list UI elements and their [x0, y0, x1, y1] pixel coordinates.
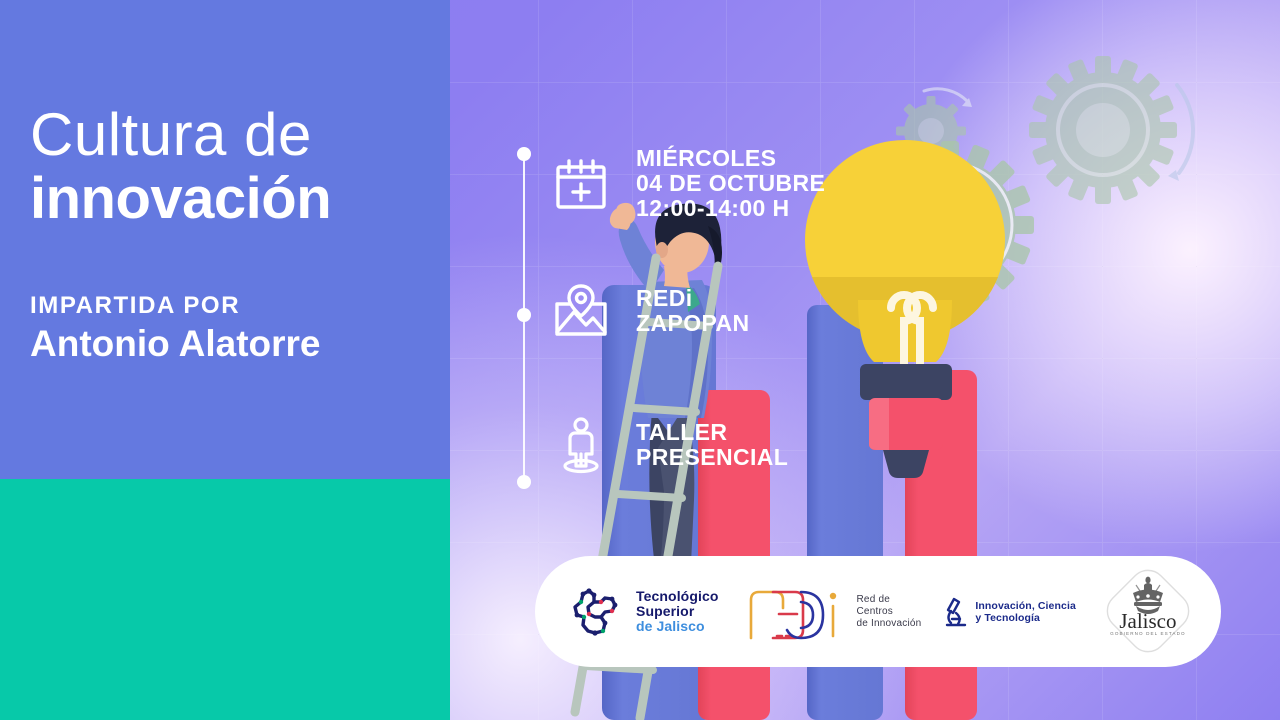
jalisco-tagline: GOBIERNO DEL ESTADO	[1100, 631, 1196, 636]
poster-root: Cultura de innovación IMPARTIDA POR Anto…	[0, 0, 1280, 720]
left-teal-block	[0, 479, 450, 720]
logo-innovacion-ciencia-tecnologia: Innovación, Ciencia y Tecnología	[943, 595, 1076, 629]
microscope-icon	[943, 595, 969, 629]
timeline-dot-2	[517, 308, 531, 322]
poster-title: Cultura de innovación	[30, 104, 430, 232]
logo-jalisco: Jalisco GOBIERNO DEL ESTADO	[1100, 565, 1196, 659]
ict-line-2: y Tecnología	[975, 612, 1076, 624]
tsj-wordmark: Tecnológico Superior de Jalisco	[636, 589, 719, 634]
speaker-block: IMPARTIDA POR Antonio Alatorre	[30, 291, 430, 367]
redi-line-2: Centros	[857, 606, 922, 618]
redi-line-1: Red de	[857, 594, 922, 606]
ict-line-1: Innovación, Ciencia	[975, 600, 1076, 612]
details-timeline	[522, 145, 526, 490]
footer-logo-card: Tecnológico Superior de Jalisco	[535, 556, 1221, 667]
tsj-line-1: Tecnológico	[636, 589, 719, 604]
redi-tagline: Red de Centros de Innovación	[857, 594, 922, 630]
tsj-mark-icon	[567, 581, 627, 643]
logo-tecnologico-superior-de-jalisco: Tecnológico Superior de Jalisco	[567, 581, 719, 643]
detail-row-modality: TALLER PRESENCIAL	[552, 416, 788, 474]
tsj-line-3: de Jalisco	[636, 619, 719, 634]
redi-mark-icon	[743, 580, 851, 644]
timeline-dot-1	[517, 147, 531, 161]
detail-row-place: REDi ZAPOPAN	[552, 282, 750, 340]
title-line-2: innovación	[30, 166, 430, 232]
detail-row-date: MIÉRCOLES 04 DE OCTUBRE 12:00-14:00 H	[552, 146, 825, 221]
map-location-icon	[552, 282, 636, 340]
gear-large-icon	[1029, 56, 1193, 204]
speaker-name: Antonio Alatorre	[30, 321, 430, 367]
speaker-label: IMPARTIDA POR	[30, 291, 430, 321]
redi-line-3: de Innovación	[857, 618, 922, 630]
calendar-plus-icon	[552, 155, 636, 213]
title-line-1: Cultura de	[30, 104, 430, 166]
timeline-dot-3	[517, 475, 531, 489]
left-blue-panel	[0, 0, 450, 479]
logo-redi: Red de Centros de Innovación	[743, 580, 922, 644]
detail-modality-text: TALLER PRESENCIAL	[636, 420, 788, 470]
standing-person-icon	[552, 416, 636, 474]
ict-wordmark: Innovación, Ciencia y Tecnología	[975, 600, 1076, 624]
detail-date-text: MIÉRCOLES 04 DE OCTUBRE 12:00-14:00 H	[636, 146, 825, 221]
detail-place-text: REDi ZAPOPAN	[636, 286, 750, 336]
tsj-line-2: Superior	[636, 604, 719, 619]
